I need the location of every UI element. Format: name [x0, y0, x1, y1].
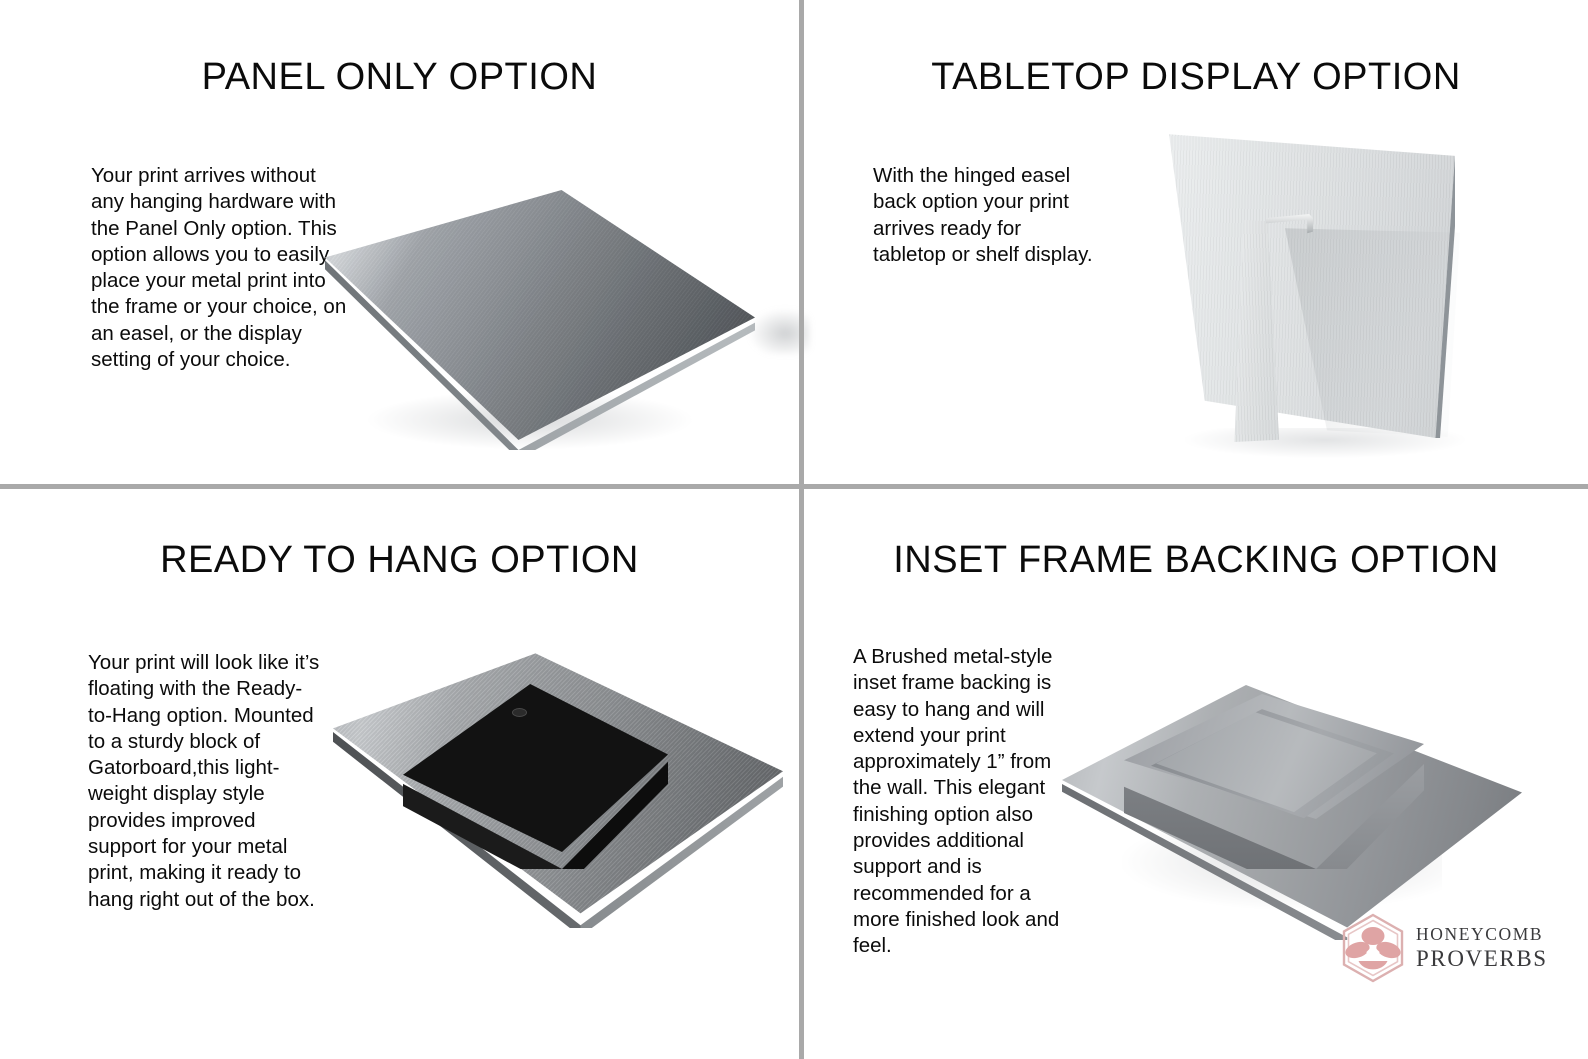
flat-metal-panel-photo [325, 190, 755, 450]
poster-canvas: PANEL ONLY OPTION Your print arrives wit… [0, 0, 1588, 1059]
inset-frame-backing-description: A Brushed metal-style inset frame backin… [853, 644, 1068, 960]
brand-logo-text: HONEYCOMB PROVERBS [1416, 926, 1548, 970]
tabletop-display-description: With the hinged easel back option your p… [873, 163, 1098, 268]
gatorboard-keyhole [512, 708, 527, 717]
tabletop-display-heading: TABLETOP DISPLAY OPTION [804, 56, 1588, 99]
hinged-easel-back-photo [1095, 128, 1495, 468]
ready-to-hang-description: Your print will look like it’s floating … [88, 650, 323, 913]
panel-only-description: Your print arrives without any hanging h… [91, 163, 351, 373]
ready-to-hang-heading: READY TO HANG OPTION [0, 539, 799, 582]
inset-frame-backing-photo [1062, 680, 1522, 940]
panel-only-heading: PANEL ONLY OPTION [0, 56, 799, 99]
gatorboard-float-mount-photo [333, 648, 783, 928]
quadrant-panel-only: PANEL ONLY OPTION Your print arrives wit… [0, 0, 799, 484]
inset-frame-backing-heading: INSET FRAME BACKING OPTION [804, 539, 1588, 582]
horizontal-divider [0, 484, 1588, 489]
vertical-divider [799, 0, 804, 1059]
brand-name-line1: HONEYCOMB [1416, 926, 1548, 944]
brand-logo: HONEYCOMB PROVERBS [1340, 912, 1555, 984]
honeycomb-bee-hexagon-logo [1340, 913, 1406, 983]
brand-name-line2: PROVERBS [1416, 947, 1548, 970]
